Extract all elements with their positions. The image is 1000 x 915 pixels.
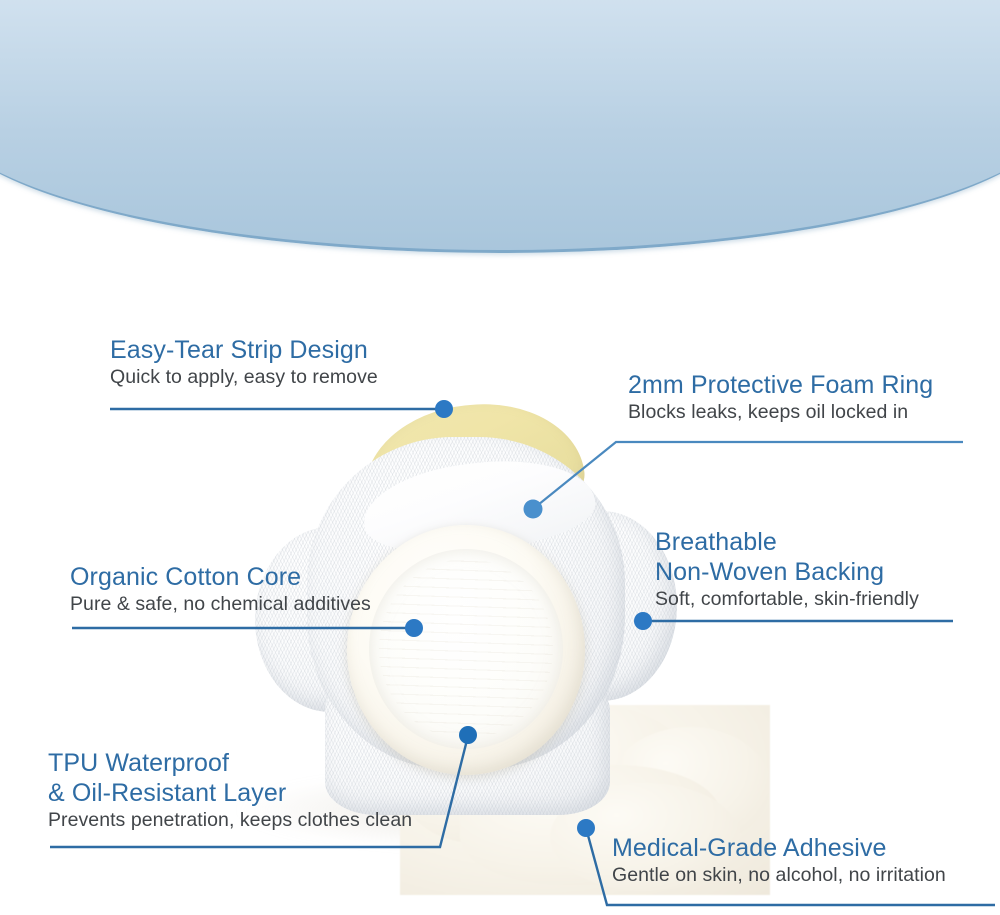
callout-breathable-backing-subtitle: Soft, comfortable, skin-friendly bbox=[655, 587, 985, 612]
callout-cotton-core-title: Organic Cotton Core bbox=[70, 562, 422, 592]
callout-medical-adhesive: Medical-Grade Adhesive Gentle on skin, n… bbox=[612, 833, 992, 888]
callout-medical-adhesive-title: Medical-Grade Adhesive bbox=[612, 833, 992, 863]
callout-easy-tear-title: Easy-Tear Strip Design bbox=[110, 335, 420, 365]
callout-tpu-layer: TPU Waterproof & Oil-Resistant Layer Pre… bbox=[48, 748, 448, 833]
infographic-canvas: MEDICAL-GRADE LEAK-PROOF PATCHES FOR REL… bbox=[0, 0, 1000, 915]
callout-foam-ring-subtitle: Blocks leaks, keeps oil locked in bbox=[628, 400, 978, 425]
callout-cotton-core-subtitle: Pure & safe, no chemical additives bbox=[70, 592, 422, 617]
header-banner-inner: MEDICAL-GRADE LEAK-PROOF PATCHES FOR REL… bbox=[0, 0, 1000, 250]
header-banner: MEDICAL-GRADE LEAK-PROOF PATCHES FOR REL… bbox=[0, 0, 1000, 253]
callout-breathable-backing-title: Breathable Non-Woven Backing bbox=[655, 527, 985, 587]
callout-medical-adhesive-subtitle: Gentle on skin, no alcohol, no irritatio… bbox=[612, 863, 992, 888]
callout-foam-ring: 2mm Protective Foam Ring Blocks leaks, k… bbox=[628, 370, 978, 425]
callout-easy-tear-subtitle: Quick to apply, easy to remove bbox=[110, 365, 420, 390]
callout-tpu-layer-subtitle: Prevents penetration, keeps clothes clea… bbox=[48, 808, 448, 833]
callout-easy-tear: Easy-Tear Strip Design Quick to apply, e… bbox=[110, 335, 420, 390]
callout-tpu-layer-title: TPU Waterproof & Oil-Resistant Layer bbox=[48, 748, 448, 808]
callout-cotton-core: Organic Cotton Core Pure & safe, no chem… bbox=[70, 562, 422, 617]
callout-breathable-backing: Breathable Non-Woven Backing Soft, comfo… bbox=[655, 527, 985, 612]
callout-foam-ring-title: 2mm Protective Foam Ring bbox=[628, 370, 978, 400]
